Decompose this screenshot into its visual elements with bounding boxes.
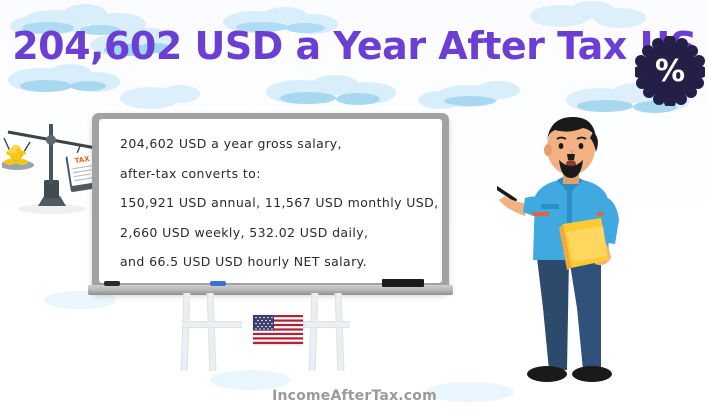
percent-symbol: % [635,36,705,106]
teacher-character [497,108,657,388]
stand-leg-right-2 [335,293,345,371]
site-watermark: IncomeAfterTax.com [0,388,709,404]
stand-leg-right [309,293,319,371]
marker-blue-icon [210,281,226,286]
stand-leg-left [181,293,191,371]
eraser-black-icon [382,279,424,287]
pointer-stick [497,154,515,200]
page-title: 204,602 USD a Year After Tax US [0,23,709,69]
whiteboard-line-5: and 66.5 USD USD hourly NET salary. [120,247,439,277]
whiteboard-line-4: 2,660 USD weekly, 532.02 USD daily, [120,218,439,248]
infographic-canvas: 204,602 USD a Year After Tax US % [0,0,709,419]
marker-black-icon [104,281,120,286]
whiteboard: 204,602 USD a year gross salary, after-t… [92,113,449,293]
stand-leg-left-2 [207,293,217,371]
united-states-flag [253,315,303,344]
stand-crossbar-left [182,321,242,328]
whiteboard-line-3: 150,921 USD annual, 11,567 USD monthly U… [120,188,439,218]
whiteboard-text: 204,602 USD a year gross salary, after-t… [120,129,439,277]
percent-badge: % [635,36,705,106]
whiteboard-line-2: after-tax converts to: [120,159,439,189]
whiteboard-line-1: 204,602 USD a year gross salary, [120,129,439,159]
